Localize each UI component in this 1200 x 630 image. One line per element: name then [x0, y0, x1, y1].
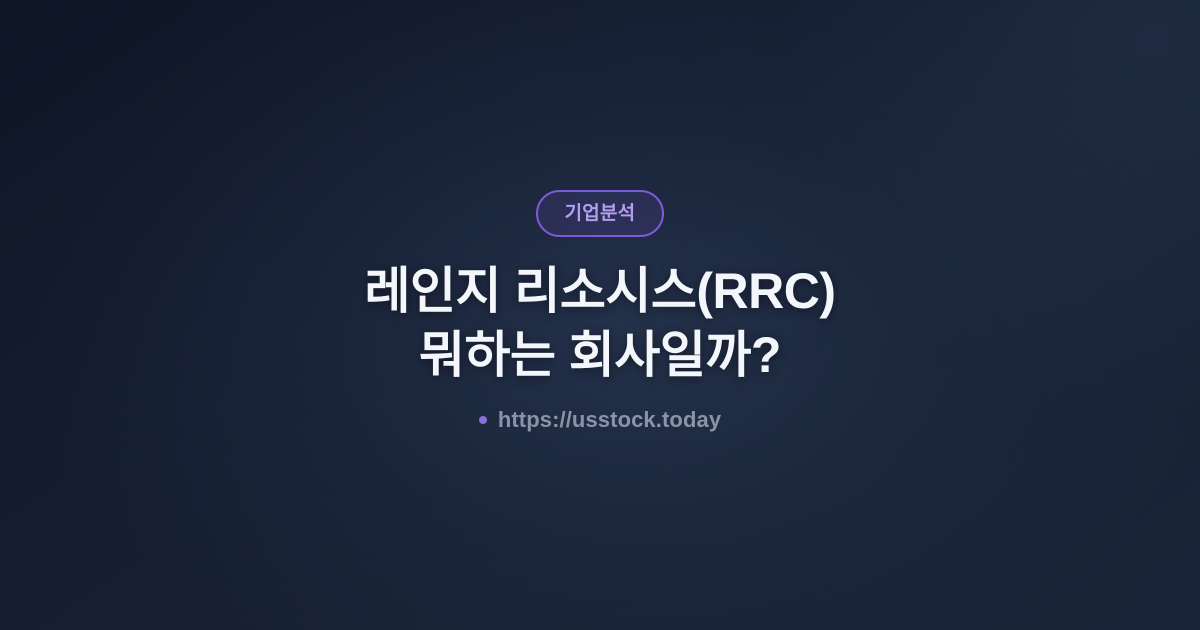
bullet-dot-icon	[479, 416, 487, 424]
category-badge: 기업분석	[536, 190, 665, 237]
page-title-line-2: 뭐하는 회사일까?	[0, 323, 1200, 387]
og-share-card: 기업분석 레인지 리소시스(RRC) 뭐하는 회사일까? https://uss…	[0, 0, 1200, 630]
page-title: 레인지 리소시스(RRC) 뭐하는 회사일까?	[0, 259, 1200, 387]
source-row: https://usstock.today	[0, 407, 1200, 433]
badge-row: 기업분석	[0, 190, 1200, 237]
category-badge-label: 기업분석	[565, 204, 636, 223]
source-url-label: https://usstock.today	[498, 407, 721, 433]
page-title-line-1: 레인지 리소시스(RRC)	[0, 259, 1200, 323]
